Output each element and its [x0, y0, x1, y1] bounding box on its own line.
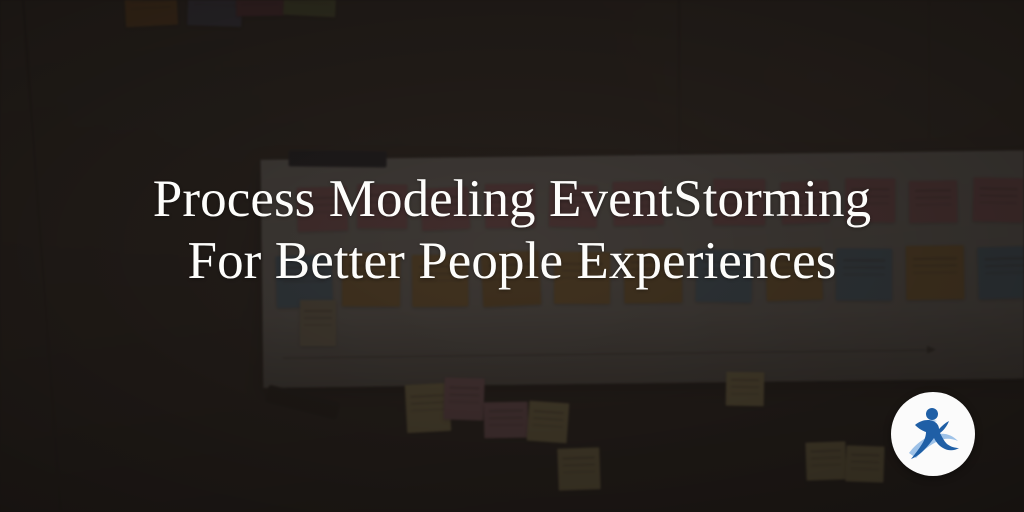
- title-line-1: Process Modeling EventStorming: [48, 168, 976, 230]
- hero-banner-card: Process Modeling EventStorming For Bette…: [0, 0, 1024, 512]
- running-figure-logo[interactable]: [891, 392, 975, 476]
- title-line-2: For Better People Experiences: [48, 230, 976, 292]
- page-title: Process Modeling EventStorming For Bette…: [0, 168, 1024, 292]
- running-figure-icon: [902, 403, 964, 465]
